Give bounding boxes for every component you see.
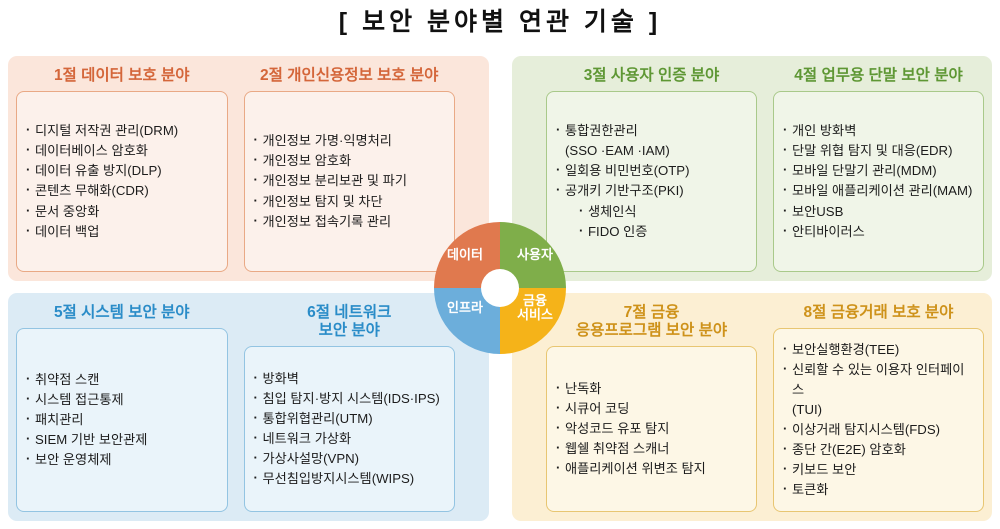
section-4-heading: 4절 업무용 단말 보안 분야	[773, 62, 984, 91]
quadrant-panel-finance: 7절 금융 응용프로그램 보안 분야 난독화 시큐어 코딩 악성코드 유포 탐지…	[512, 293, 992, 521]
list-item: 애플리케이션 위변조 탐지	[556, 459, 749, 479]
list-item: 일회용 비민번호(OTP)	[556, 161, 749, 181]
donut-label-finance: 금융 서비스	[507, 294, 563, 322]
list-item: 이상거래 탐지시스템(FDS)	[783, 420, 976, 440]
section-8: 8절 금융거래 보호 분야 보안실행환경(TEE) 신뢰할 수 있는 이용자 인…	[765, 293, 992, 521]
section-5: 5절 시스템 보안 분야 취약점 스캔 시스템 접근통제 패치관리 SIEM 기…	[8, 293, 236, 521]
list-item: 보안 운영체제	[26, 450, 220, 470]
list-item: 보안실행환경(TEE)	[783, 340, 976, 360]
list-item: 콘텐츠 무해화(CDR)	[26, 181, 220, 201]
list-item: 개인정보 분리보관 및 파기	[254, 171, 448, 191]
list-item: 무선침입방지시스템(WIPS)	[254, 469, 448, 489]
section-6-body: 방화벽 침입 탐지·방지 시스템(IDS·IPS) 통합위협관리(UTM) 네트…	[244, 346, 456, 512]
list-item: 데이터 백업	[26, 222, 220, 242]
section-4-body: 개인 방화벽 단말 위협 탐지 및 대응(EDR) 모바일 단말기 관리(MDM…	[773, 91, 984, 272]
list-item: 키보드 보안	[783, 460, 976, 480]
section-3-heading: 3절 사용자 인증 분야	[546, 62, 757, 91]
section-7-body: 난독화 시큐어 코딩 악성코드 유포 탐지 웹쉘 취약점 스캐너 애플리케이션 …	[546, 346, 757, 512]
section-1: 1절 데이터 보호 분야 디지털 저작권 관리(DRM) 데이터베이스 암호화 …	[8, 56, 236, 281]
quadrant-panel-infra: 5절 시스템 보안 분야 취약점 스캔 시스템 접근통제 패치관리 SIEM 기…	[8, 293, 489, 521]
section-5-heading: 5절 시스템 보안 분야	[16, 299, 228, 328]
list-item: 신뢰할 수 있는 이용자 인터페이스 (TUI)	[783, 360, 976, 420]
list-item: 웹쉘 취약점 스캐너	[556, 439, 749, 459]
list-item: 개인정보 탐지 및 차단	[254, 192, 448, 212]
section-3-body: 통합권한관리 (SSO ·EAM ·IAM) 일회용 비민번호(OTP) 공개키…	[546, 91, 757, 272]
quadrant-panel-data: 1절 데이터 보호 분야 디지털 저작권 관리(DRM) 데이터베이스 암호화 …	[8, 56, 489, 281]
list-item: 보안USB	[783, 202, 976, 222]
list-item: 안티바이러스	[783, 222, 976, 242]
list-item: 데이터베이스 암호화	[26, 141, 220, 161]
section-4-list: 개인 방화벽 단말 위협 탐지 및 대응(EDR) 모바일 단말기 관리(MDM…	[783, 121, 976, 241]
list-item: 개인정보 암호화	[254, 151, 448, 171]
list-item: 취약점 스캔	[26, 370, 220, 390]
list-item: FIDO 인증	[556, 222, 749, 242]
section-7-heading: 7절 금융 응용프로그램 보안 분야	[546, 299, 757, 346]
list-item: 모바일 단말기 관리(MDM)	[783, 161, 976, 181]
section-4: 4절 업무용 단말 보안 분야 개인 방화벽 단말 위협 탐지 및 대응(EDR…	[765, 56, 992, 281]
list-item: 데이터 유출 방지(DLP)	[26, 161, 220, 181]
list-item: 악성코드 유포 탐지	[556, 419, 749, 439]
section-5-body: 취약점 스캔 시스템 접근통제 패치관리 SIEM 기반 보안관제 보안 운영체…	[16, 328, 228, 512]
list-item: 종단 간(E2E) 암호화	[783, 440, 976, 460]
list-item: 가상사설망(VPN)	[254, 449, 448, 469]
list-item: 공개키 기반구조(PKI)	[556, 181, 749, 201]
list-item: 문서 중앙화	[26, 202, 220, 222]
donut-label-data: 데이터	[437, 248, 493, 262]
donut-ring: 데이터 사용자 인프라 금융 서비스	[434, 222, 566, 354]
list-item: 개인 방화벽	[783, 121, 976, 141]
list-item: 네트워크 가상화	[254, 429, 448, 449]
section-2-list: 개인정보 가명·익명처리 개인정보 암호화 개인정보 분리보관 및 파기 개인정…	[254, 131, 448, 231]
section-3-list: 통합권한관리 (SSO ·EAM ·IAM) 일회용 비민번호(OTP) 공개키…	[556, 121, 749, 241]
list-item: 디지털 저작권 관리(DRM)	[26, 121, 220, 141]
section-1-list: 디지털 저작권 관리(DRM) 데이터베이스 암호화 데이터 유출 방지(DLP…	[26, 121, 220, 241]
section-1-heading: 1절 데이터 보호 분야	[16, 62, 228, 91]
list-item: 시스템 접근통제	[26, 390, 220, 410]
list-item: 토큰화	[783, 480, 976, 500]
donut-label-infra: 인프라	[437, 301, 493, 315]
list-item: 개인정보 접속기록 관리	[254, 212, 448, 232]
list-item: 통합권한관리 (SSO ·EAM ·IAM)	[556, 121, 749, 161]
diagram-root: [ 보안 분야별 연관 기술 ] 1절 데이터 보호 분야 디지털 저작권 관리…	[0, 0, 1000, 529]
quadrant-panel-user: 3절 사용자 인증 분야 통합권한관리 (SSO ·EAM ·IAM) 일회용 …	[512, 56, 992, 281]
list-item: 개인정보 가명·익명처리	[254, 131, 448, 151]
section-5-list: 취약점 스캔 시스템 접근통제 패치관리 SIEM 기반 보안관제 보안 운영체…	[26, 370, 220, 470]
center-donut-chart: 데이터 사용자 인프라 금융 서비스	[434, 222, 566, 354]
list-item: 단말 위협 탐지 및 대응(EDR)	[783, 141, 976, 161]
page-title: [ 보안 분야별 연관 기술 ]	[0, 2, 1000, 38]
section-6-heading: 6절 네트워크 보안 분야	[244, 299, 456, 346]
section-7-list: 난독화 시큐어 코딩 악성코드 유포 탐지 웹쉘 취약점 스캐너 애플리케이션 …	[556, 379, 749, 479]
section-6-list: 방화벽 침입 탐지·방지 시스템(IDS·IPS) 통합위협관리(UTM) 네트…	[254, 369, 448, 489]
list-item: 모바일 애플리케이션 관리(MAM)	[783, 181, 976, 201]
section-1-body: 디지털 저작권 관리(DRM) 데이터베이스 암호화 데이터 유출 방지(DLP…	[16, 91, 228, 272]
list-item: 난독화	[556, 379, 749, 399]
list-item: 생체인식	[556, 202, 749, 222]
donut-label-user: 사용자	[507, 248, 563, 262]
section-2-heading: 2절 개인신용정보 보호 분야	[244, 62, 456, 91]
section-8-body: 보안실행환경(TEE) 신뢰할 수 있는 이용자 인터페이스 (TUI) 이상거…	[773, 328, 984, 512]
section-2-body: 개인정보 가명·익명처리 개인정보 암호화 개인정보 분리보관 및 파기 개인정…	[244, 91, 456, 272]
list-item: 통합위협관리(UTM)	[254, 409, 448, 429]
list-item: 패치관리	[26, 410, 220, 430]
list-item: 방화벽	[254, 369, 448, 389]
list-item: SIEM 기반 보안관제	[26, 430, 220, 450]
list-item: 시큐어 코딩	[556, 399, 749, 419]
section-8-list: 보안실행환경(TEE) 신뢰할 수 있는 이용자 인터페이스 (TUI) 이상거…	[783, 340, 976, 501]
list-item: 침입 탐지·방지 시스템(IDS·IPS)	[254, 389, 448, 409]
section-8-heading: 8절 금융거래 보호 분야	[773, 299, 984, 328]
